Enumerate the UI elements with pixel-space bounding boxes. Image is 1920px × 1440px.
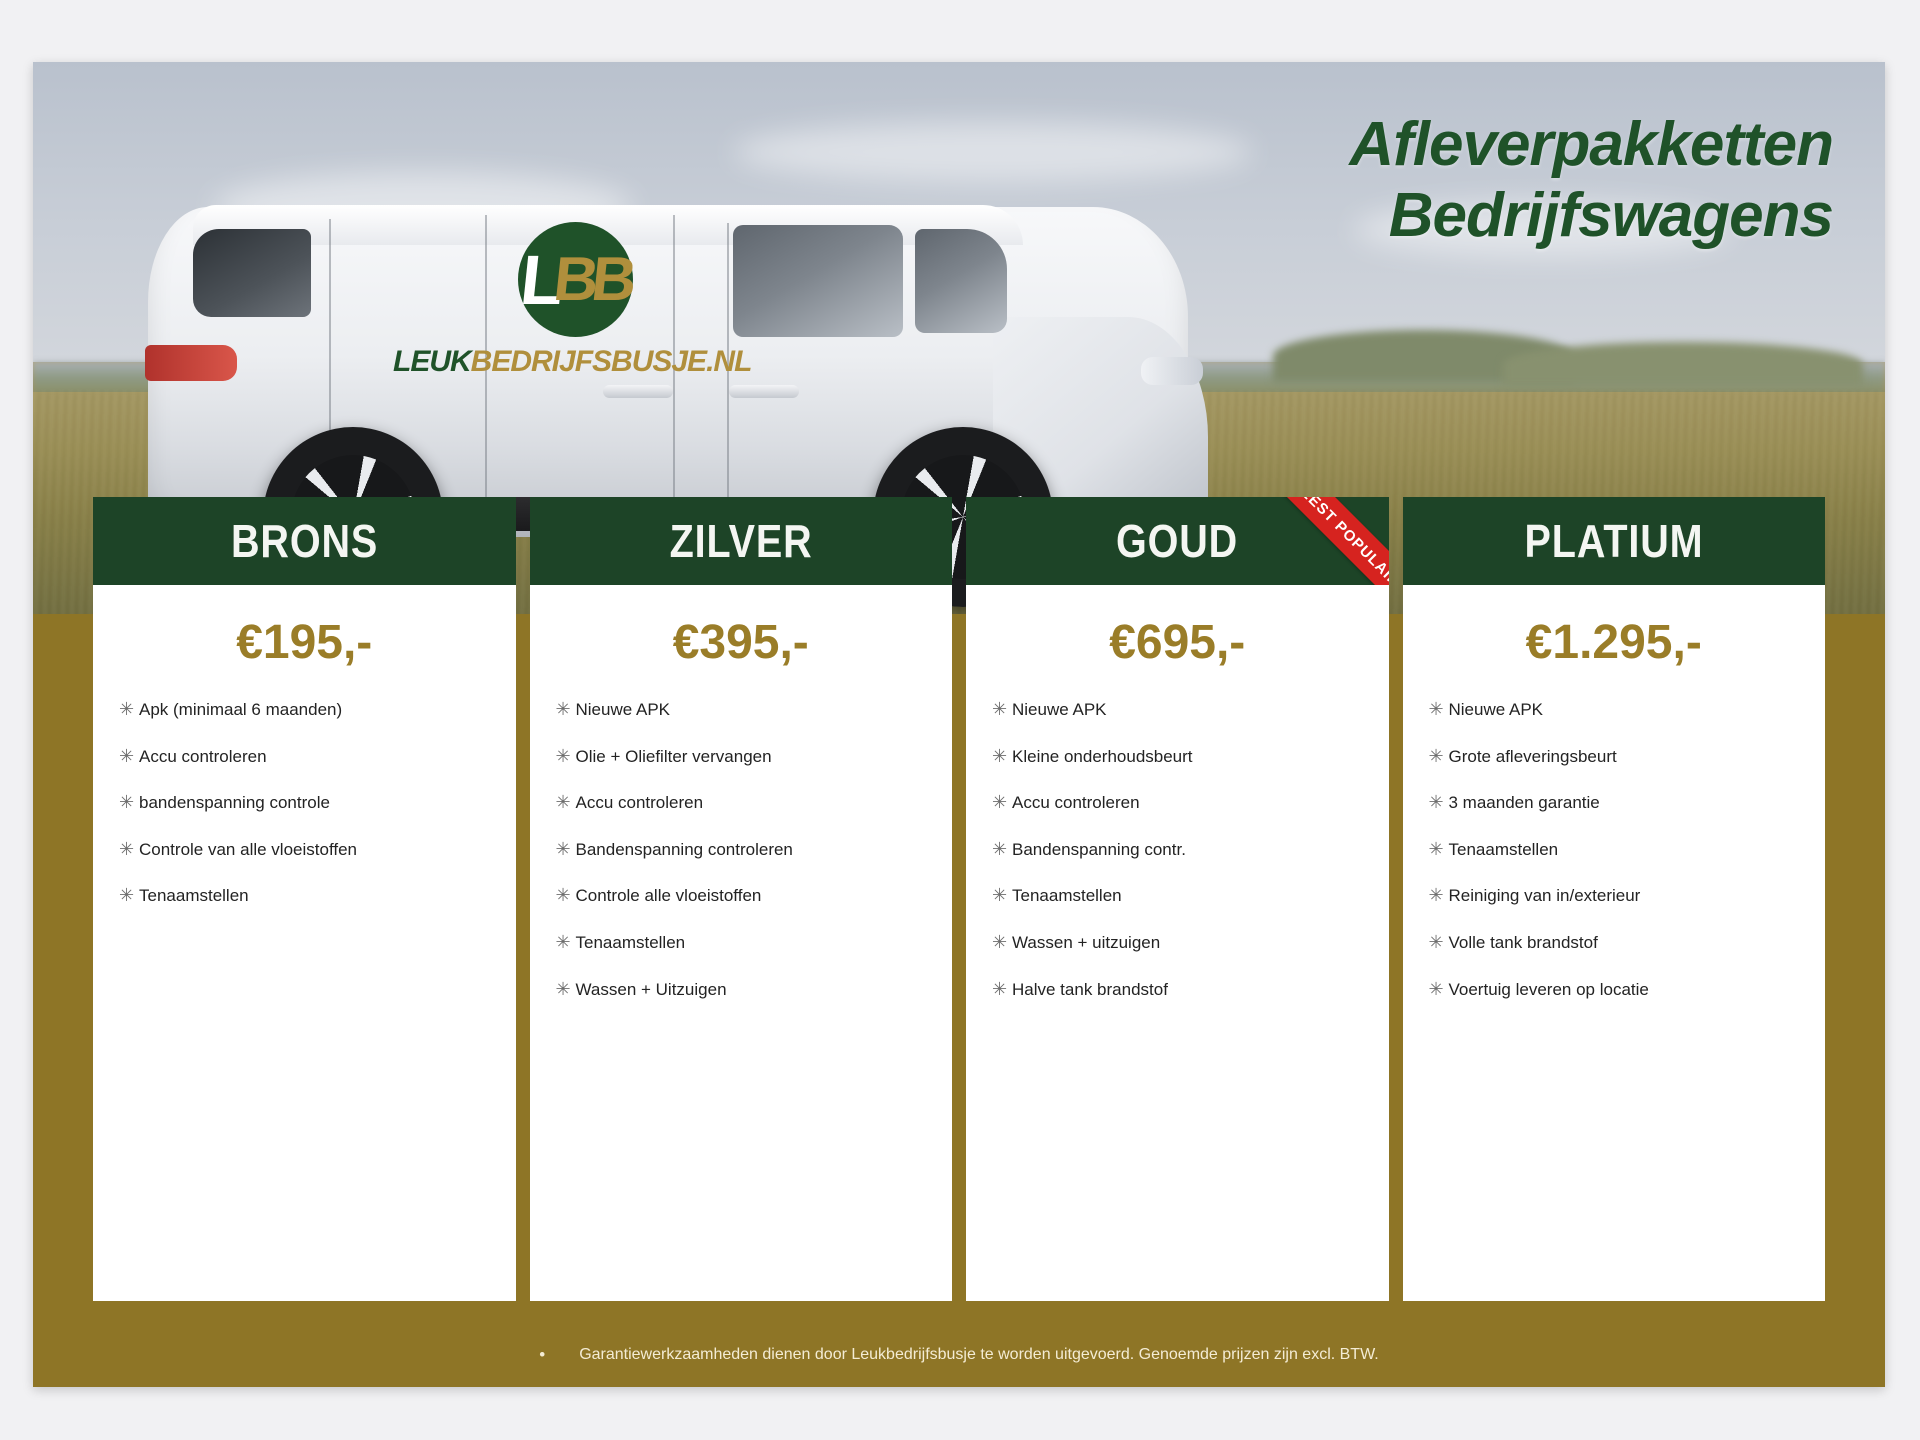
van-front-door-window <box>733 225 903 337</box>
card-spacer <box>1403 1163 1826 1301</box>
feature-label: Wassen + Uitzuigen <box>576 979 727 1000</box>
asterisk-bullet-icon: ✳ <box>992 792 1012 814</box>
van-rear-window <box>193 229 311 317</box>
headline-line-1: Afleverpakketten <box>1349 110 1833 181</box>
feature-label: Controle van alle vloeistoffen <box>139 839 357 860</box>
logo-letters-bb: BB <box>551 249 633 311</box>
feature-label: Halve tank brandstof <box>1012 979 1168 1000</box>
poster-footnote: • Garantiewerkzaamheden dienen door Leuk… <box>33 1323 1885 1387</box>
card-header: GOUDMEEST POPULAIR <box>966 497 1389 585</box>
feature-item: ✳Kleine onderhoudsbeurt <box>992 746 1371 768</box>
feature-item: ✳Halve tank brandstof <box>992 979 1371 1001</box>
van-headlight <box>1141 357 1203 385</box>
poster-headline: Afleverpakketten Bedrijfswagens <box>1349 110 1833 251</box>
feature-label: Olie + Oliefilter vervangen <box>576 746 772 767</box>
van-windshield <box>915 229 1007 333</box>
feature-item: ✳Tenaamstellen <box>992 885 1371 907</box>
pricing-card-zilver[interactable]: ZILVER€395,-✳Nieuwe APK✳Olie + Oliefilte… <box>530 497 953 1301</box>
feature-label: Bandenspanning controleren <box>576 839 793 860</box>
asterisk-bullet-icon: ✳ <box>119 885 139 907</box>
asterisk-bullet-icon: ✳ <box>1429 885 1449 907</box>
asterisk-bullet-icon: ✳ <box>1429 932 1449 954</box>
asterisk-bullet-icon: ✳ <box>119 746 139 768</box>
asterisk-bullet-icon: ✳ <box>992 932 1012 954</box>
feature-item: ✳Grote afleveringsbeurt <box>1429 746 1808 768</box>
asterisk-bullet-icon: ✳ <box>992 699 1012 721</box>
pricing-card-brons[interactable]: BRONS€195,-✳Apk (minimaal 6 maanden)✳Acc… <box>93 497 516 1301</box>
feature-item: ✳Wassen + Uitzuigen <box>556 979 935 1001</box>
feature-label: Tenaamstellen <box>576 932 686 953</box>
feature-label: Nieuwe APK <box>576 699 671 720</box>
asterisk-bullet-icon: ✳ <box>556 885 576 907</box>
card-price: €395,- <box>530 585 953 681</box>
feature-item: ✳Nieuwe APK <box>556 699 935 721</box>
van-door-handle <box>603 385 673 398</box>
footnote-bullet-icon: • <box>539 1345 545 1365</box>
feature-item: ✳Olie + Oliefilter vervangen <box>556 746 935 768</box>
feature-label: Volle tank brandstof <box>1449 932 1598 953</box>
asterisk-bullet-icon: ✳ <box>992 885 1012 907</box>
hill-shape <box>1503 342 1863 386</box>
feature-item: ✳Controle alle vloeistoffen <box>556 885 935 907</box>
website-part-domain: BEDRIJFSBUSJE.NL <box>471 345 752 378</box>
feature-item: ✳bandenspanning controle <box>119 792 498 814</box>
pricing-poster: LBB LEUKBEDRIJFSBUSJE.NL Afleverpakkette… <box>33 62 1885 1387</box>
company-website-decal: LEUKBEDRIJFSBUSJE.NL <box>393 347 751 377</box>
card-header: ZILVER <box>530 497 953 585</box>
pricing-card-platium[interactable]: PLATIUM€1.295,-✳Nieuwe APK✳Grote aflever… <box>1403 497 1826 1301</box>
feature-item: ✳Apk (minimaal 6 maanden) <box>119 699 498 721</box>
van-taillight <box>145 345 237 381</box>
feature-item: ✳Volle tank brandstof <box>1429 932 1808 954</box>
asterisk-bullet-icon: ✳ <box>556 792 576 814</box>
footnote-text: Garantiewerkzaamheden dienen door Leukbe… <box>579 1347 1379 1363</box>
asterisk-bullet-icon: ✳ <box>1429 699 1449 721</box>
pricing-card-goud[interactable]: GOUDMEEST POPULAIR€695,-✳Nieuwe APK✳Klei… <box>966 497 1389 1301</box>
feature-item: ✳Bandenspanning controleren <box>556 839 935 861</box>
feature-label: Tenaamstellen <box>1012 885 1122 906</box>
feature-list: ✳Apk (minimaal 6 maanden)✳Accu controler… <box>93 681 516 1116</box>
card-title: GOUD <box>1116 518 1238 564</box>
website-part-leuk: LEUK <box>393 345 471 378</box>
asterisk-bullet-icon: ✳ <box>119 839 139 861</box>
card-title: ZILVER <box>669 518 812 564</box>
card-spacer <box>966 1163 1389 1301</box>
feature-label: Nieuwe APK <box>1012 699 1107 720</box>
card-header: BRONS <box>93 497 516 585</box>
asterisk-bullet-icon: ✳ <box>556 746 576 768</box>
card-header: PLATIUM <box>1403 497 1826 585</box>
feature-item: ✳Voertuig leveren op locatie <box>1429 979 1808 1001</box>
feature-label: Voertuig leveren op locatie <box>1449 979 1649 1000</box>
feature-label: Nieuwe APK <box>1449 699 1544 720</box>
card-spacer <box>530 1163 953 1301</box>
asterisk-bullet-icon: ✳ <box>119 699 139 721</box>
feature-item: ✳Reiniging van in/exterieur <box>1429 885 1808 907</box>
asterisk-bullet-icon: ✳ <box>1429 839 1449 861</box>
asterisk-bullet-icon: ✳ <box>556 932 576 954</box>
feature-list: ✳Nieuwe APK✳Kleine onderhoudsbeurt✳Accu … <box>966 681 1389 1163</box>
feature-item: ✳Accu controleren <box>119 746 498 768</box>
card-title: BRONS <box>231 518 378 564</box>
feature-item: ✳Accu controleren <box>556 792 935 814</box>
feature-label: Accu controleren <box>1012 792 1140 813</box>
feature-item: ✳Tenaamstellen <box>1429 839 1808 861</box>
feature-list: ✳Nieuwe APK✳Olie + Oliefilter vervangen✳… <box>530 681 953 1163</box>
asterisk-bullet-icon: ✳ <box>992 979 1012 1001</box>
feature-label: Tenaamstellen <box>1449 839 1559 860</box>
asterisk-bullet-icon: ✳ <box>556 839 576 861</box>
feature-list: ✳Nieuwe APK✳Grote afleveringsbeurt✳3 maa… <box>1403 681 1826 1163</box>
feature-item: ✳Tenaamstellen <box>556 932 935 954</box>
card-spacer <box>93 1116 516 1301</box>
headline-line-2: Bedrijfswagens <box>1349 181 1833 252</box>
card-price: €695,- <box>966 585 1389 681</box>
feature-label: Grote afleveringsbeurt <box>1449 746 1617 767</box>
card-price: €195,- <box>93 585 516 681</box>
feature-item: ✳Accu controleren <box>992 792 1371 814</box>
feature-label: Reiniging van in/exterieur <box>1449 885 1641 906</box>
feature-label: Kleine onderhoudsbeurt <box>1012 746 1193 767</box>
asterisk-bullet-icon: ✳ <box>1429 979 1449 1001</box>
asterisk-bullet-icon: ✳ <box>119 792 139 814</box>
asterisk-bullet-icon: ✳ <box>992 746 1012 768</box>
feature-item: ✳Controle van alle vloeistoffen <box>119 839 498 861</box>
feature-label: bandenspanning controle <box>139 792 330 813</box>
most-popular-ribbon: MEEST POPULAIR <box>1259 497 1388 585</box>
feature-item: ✳Bandenspanning contr. <box>992 839 1371 861</box>
asterisk-bullet-icon: ✳ <box>556 979 576 1001</box>
feature-item: ✳3 maanden garantie <box>1429 792 1808 814</box>
card-title: PLATIUM <box>1524 518 1703 564</box>
asterisk-bullet-icon: ✳ <box>556 699 576 721</box>
asterisk-bullet-icon: ✳ <box>1429 792 1449 814</box>
feature-item: ✳Nieuwe APK <box>992 699 1371 721</box>
feature-label: Apk (minimaal 6 maanden) <box>139 699 342 720</box>
asterisk-bullet-icon: ✳ <box>992 839 1012 861</box>
ribbon-label: MEEST POPULAIR <box>1288 497 1388 585</box>
feature-label: Wassen + uitzuigen <box>1012 932 1160 953</box>
feature-item: ✳Wassen + uitzuigen <box>992 932 1371 954</box>
asterisk-bullet-icon: ✳ <box>1429 746 1449 768</box>
feature-label: 3 maanden garantie <box>1449 792 1600 813</box>
feature-item: ✳Nieuwe APK <box>1429 699 1808 721</box>
pricing-cards-row: BRONS€195,-✳Apk (minimaal 6 maanden)✳Acc… <box>93 497 1825 1301</box>
feature-label: Accu controleren <box>139 746 267 767</box>
feature-label: Tenaamstellen <box>139 885 249 906</box>
feature-item: ✳Tenaamstellen <box>119 885 498 907</box>
company-logo-icon: LBB <box>518 222 633 337</box>
feature-label: Accu controleren <box>576 792 704 813</box>
feature-label: Controle alle vloeistoffen <box>576 885 762 906</box>
van-door-handle <box>729 385 799 398</box>
card-price: €1.295,- <box>1403 585 1826 681</box>
feature-label: Bandenspanning contr. <box>1012 839 1186 860</box>
